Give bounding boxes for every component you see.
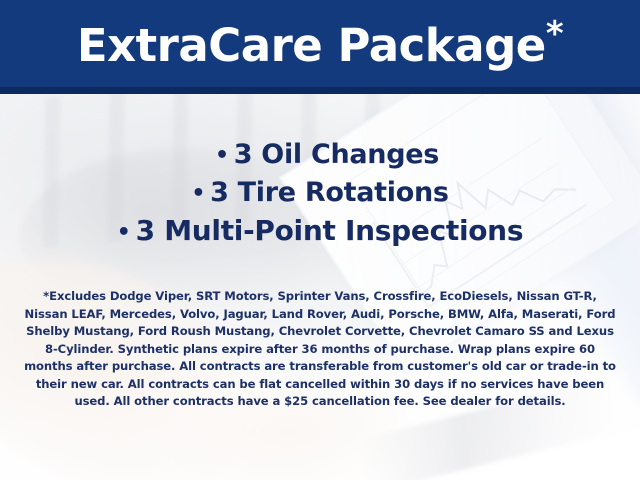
benefit-label: 3 Oil Changes <box>234 139 439 170</box>
page-title: ExtraCare Package* <box>77 23 563 68</box>
bullet-dot-icon: • <box>215 143 229 168</box>
bullet-dot-icon: • <box>191 181 205 206</box>
page-title-text: ExtraCare Package <box>77 19 546 72</box>
benefit-label: 3 Tire Rotations <box>210 177 449 208</box>
benefit-item-multi-point-inspections: •3 Multi-Point Inspections <box>0 212 640 251</box>
bullet-dot-icon: • <box>117 220 131 245</box>
benefit-item-tire-rotations: •3 Tire Rotations <box>0 174 640 212</box>
banner-bottom-edge <box>0 87 640 94</box>
title-asterisk: * <box>546 14 563 54</box>
benefit-item-oil-changes: •3 Oil Changes <box>0 136 640 174</box>
benefit-label: 3 Multi-Point Inspections <box>136 214 524 247</box>
disclaimer-text: *Excludes Dodge Viper, SRT Motors, Sprin… <box>22 288 618 411</box>
extracare-package-ad: ExtraCare Package* •3 Oil Changes •3 Tir… <box>0 0 640 480</box>
benefits-list: •3 Oil Changes •3 Tire Rotations •3 Mult… <box>0 136 640 251</box>
header-banner: ExtraCare Package* <box>0 0 640 94</box>
